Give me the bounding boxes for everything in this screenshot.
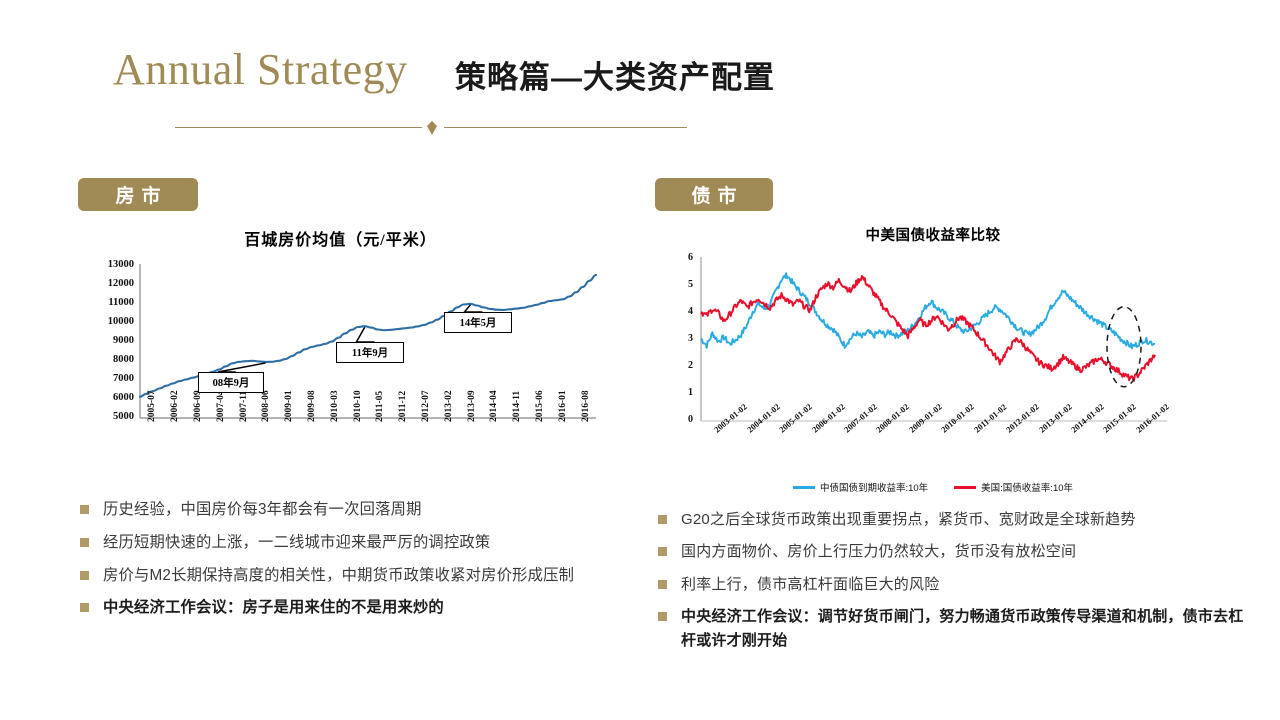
x-axis-tick-label: 2007-11 bbox=[239, 391, 249, 422]
bullet-list-bond-market: G20之后全球货币政策出现重要拐点，紧货币、宽财政是全球新趋势国内方面物价、房价… bbox=[658, 508, 1258, 661]
section-badge-house-market: 房市 bbox=[78, 178, 198, 211]
section-badge-bond-market: 债市 bbox=[655, 178, 773, 211]
x-axis-tick-label: 2008-06 bbox=[261, 390, 271, 422]
china-yield-line bbox=[701, 273, 1155, 348]
legend-swatch bbox=[954, 486, 976, 489]
legend-swatch bbox=[793, 486, 815, 489]
y-axis-tick-label: 1 bbox=[663, 387, 693, 398]
bullet-bond-item: 利率上行，债市高杠杆面临巨大的风险 bbox=[658, 573, 1258, 597]
chart-bond-yield-title: 中美国债收益率比较 bbox=[663, 222, 1203, 245]
chart-callout-1: 08年9月 bbox=[198, 372, 264, 393]
y-axis-tick-label: 5 bbox=[663, 279, 693, 290]
bullet-square-icon bbox=[658, 580, 667, 589]
y-axis-tick-label: 8000 bbox=[78, 354, 134, 365]
chart-callout-2: 11年9月 bbox=[336, 342, 404, 363]
bullet-list-house-market: 历史经验，中国房价每3年都会有一次回落周期经历短期快速的上涨，一二线城市迎来最严… bbox=[80, 498, 625, 629]
x-axis-tick-label: 2014-04 bbox=[489, 390, 499, 422]
bullet-bond-item: 国内方面物价、房价上行压力仍然较大，货币没有放松空间 bbox=[658, 540, 1258, 564]
us-yield-line bbox=[701, 276, 1155, 381]
y-axis-tick-label: 12000 bbox=[78, 278, 134, 289]
page-title-english: Annual Strategy bbox=[113, 44, 408, 95]
chart-callout-3: 14年5月 bbox=[444, 312, 512, 333]
x-axis-tick-label: 2005-07 bbox=[147, 390, 157, 422]
y-axis-tick-label: 6000 bbox=[78, 392, 134, 403]
legend-item: 中债国债到期收益率:10年 bbox=[793, 480, 928, 494]
x-axis-tick-label: 2006-02 bbox=[170, 390, 180, 422]
section-badge-bond-market-label: 债市 bbox=[684, 181, 743, 208]
bullet-house-item-text: 中央经济工作会议：房子是用来住的不是用来炒的 bbox=[103, 596, 444, 621]
x-axis-tick-label: 2016-08 bbox=[581, 390, 591, 422]
chart-bond-yield-legend: 中债国债到期收益率:10年美国:国债收益率:10年 bbox=[663, 480, 1203, 494]
bullet-bond-item-text: 国内方面物价、房价上行压力仍然较大，货币没有放松空间 bbox=[681, 540, 1076, 564]
bullet-house-item: 房价与M2长期保持高度的相关性，中期货币政策收紧对房价形成压制 bbox=[80, 564, 625, 589]
divider-rule-left bbox=[175, 127, 422, 128]
x-axis-tick-label: 2010-03 bbox=[330, 390, 340, 422]
page-title-chinese: 策略篇—大类资产配置 bbox=[455, 52, 775, 97]
legend-item: 美国:国债收益率:10年 bbox=[954, 480, 1073, 494]
x-axis-tick-label: 2016-01 bbox=[558, 390, 568, 422]
bullet-house-item: 历史经验，中国房价每3年都会有一次回落周期 bbox=[80, 498, 625, 523]
bullet-square-icon bbox=[658, 515, 667, 524]
chart-bond-yield: 中美国债收益率比较 65432102003-01-022004-01-02200… bbox=[663, 222, 1203, 507]
bullet-square-icon bbox=[658, 612, 667, 621]
divider-rule-right bbox=[444, 127, 687, 128]
x-axis-tick-label: 2015-06 bbox=[535, 390, 545, 422]
bullet-bond-item: 中央经济工作会议：调节好货币闸门，努力畅通货币政策传导渠道和机制，债市去杠杆或许… bbox=[658, 605, 1258, 654]
chart-bond-yield-plot: 65432102003-01-022004-01-022005-01-02200… bbox=[663, 245, 1203, 490]
chart-house-price: 百城房价均值（元/平米） 130001200011000100009000800… bbox=[78, 222, 603, 484]
bullet-square-icon bbox=[80, 603, 89, 612]
x-axis-tick-label: 2013-09 bbox=[467, 390, 477, 422]
x-axis-tick-label: 2006-09 bbox=[193, 390, 203, 422]
bullet-bond-item: G20之后全球货币政策出现重要拐点，紧货币、宽财政是全球新趋势 bbox=[658, 508, 1258, 532]
callout-leader-line bbox=[356, 327, 374, 342]
bullet-bond-item-text: 中央经济工作会议：调节好货币闸门，努力畅通货币政策传导渠道和机制，债市去杠杆或许… bbox=[681, 605, 1258, 654]
chart-house-price-svg bbox=[78, 250, 603, 485]
x-axis-tick-label: 2009-01 bbox=[284, 390, 294, 422]
x-axis-tick-label: 2014-11 bbox=[512, 391, 522, 422]
x-axis-tick-label: 2011-12 bbox=[398, 391, 408, 422]
bullet-house-item-text: 房价与M2长期保持高度的相关性，中期货币政策收紧对房价形成压制 bbox=[103, 564, 574, 589]
x-axis-tick-label: 2013-02 bbox=[444, 390, 454, 422]
bullet-bond-item-text: G20之后全球货币政策出现重要拐点，紧货币、宽财政是全球新趋势 bbox=[681, 508, 1136, 532]
title-divider bbox=[175, 121, 687, 135]
x-axis-tick-label: 2011-05 bbox=[375, 391, 385, 422]
legend-label: 中债国债到期收益率:10年 bbox=[820, 480, 928, 494]
y-axis-tick-label: 7000 bbox=[78, 373, 134, 384]
y-axis-tick-label: 4 bbox=[663, 306, 693, 317]
bullet-square-icon bbox=[80, 505, 89, 514]
bullet-bond-item-text: 利率上行，债市高杠杆面临巨大的风险 bbox=[681, 573, 939, 597]
x-axis-tick-label: 2012-07 bbox=[421, 390, 431, 422]
chart-house-price-plot: 1300012000110001000090008000700060005000… bbox=[78, 250, 603, 485]
bullet-square-icon bbox=[80, 571, 89, 580]
y-axis-tick-label: 0 bbox=[663, 414, 693, 425]
y-axis-tick-label: 6 bbox=[663, 252, 693, 263]
y-axis-tick-label: 2 bbox=[663, 360, 693, 371]
bullet-square-icon bbox=[658, 547, 667, 556]
y-axis-tick-label: 5000 bbox=[78, 411, 134, 422]
legend-label: 美国:国债收益率:10年 bbox=[981, 480, 1073, 494]
bullet-house-item: 中央经济工作会议：房子是用来住的不是用来炒的 bbox=[80, 596, 625, 621]
y-axis-tick-label: 10000 bbox=[78, 316, 134, 327]
bullet-house-item-text: 经历短期快速的上涨，一二线城市迎来最严厉的调控政策 bbox=[103, 531, 490, 556]
bullet-house-item: 经历短期快速的上涨，一二线城市迎来最严厉的调控政策 bbox=[80, 531, 625, 556]
chart-bond-yield-svg bbox=[663, 245, 1203, 490]
diamond-ornament-icon bbox=[425, 121, 439, 135]
bullet-house-item-text: 历史经验，中国房价每3年都会有一次回落周期 bbox=[103, 498, 422, 523]
y-axis-tick-label: 11000 bbox=[78, 297, 134, 308]
chart-house-price-title: 百城房价均值（元/平米） bbox=[78, 222, 603, 250]
x-axis-tick-label: 2010-10 bbox=[353, 390, 363, 422]
x-axis-tick-label: 2007-04 bbox=[216, 390, 226, 422]
page-header: Annual Strategy 策略篇—大类资产配置 bbox=[0, 0, 1280, 150]
y-axis-tick-label: 9000 bbox=[78, 335, 134, 346]
x-axis-tick-label: 2009-08 bbox=[307, 390, 317, 422]
y-axis-tick-label: 3 bbox=[663, 333, 693, 344]
bullet-square-icon bbox=[80, 538, 89, 547]
section-badge-house-market-label: 房市 bbox=[108, 181, 167, 208]
y-axis-tick-label: 13000 bbox=[78, 259, 134, 270]
